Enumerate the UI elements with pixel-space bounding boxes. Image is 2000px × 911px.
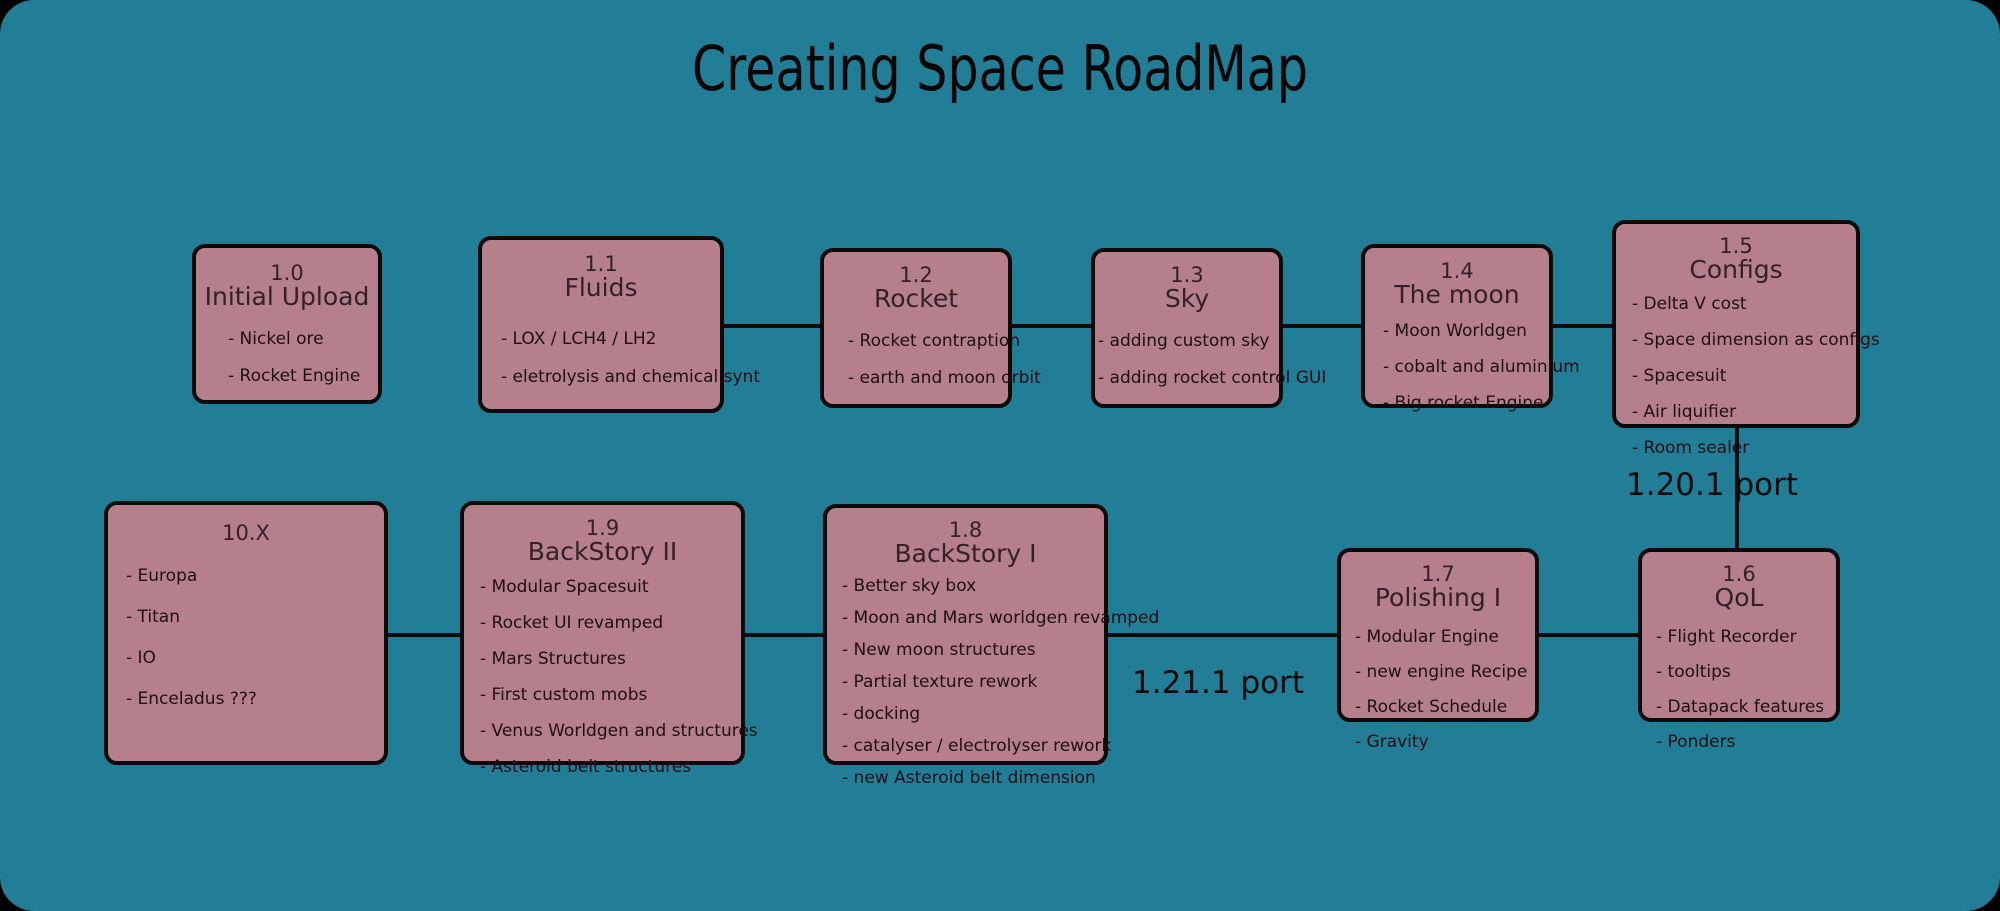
node-header: 1.1 Fluids [482,240,720,302]
list-item: - First custom mobs [480,687,741,704]
node-header: 10.X [108,505,384,544]
node-version: 1.8 [827,519,1104,541]
list-item: - Datapack features [1656,699,1836,716]
list-item: - new Asteroid belt dimension [842,770,1104,787]
node-item-list: - LOX / LCH4 / LH2 - eletrolysis and che… [482,302,720,386]
list-item: - Flight Recorder [1656,629,1836,646]
list-item: - Room sealer [1632,440,1856,457]
node-version: 10.X [108,522,384,544]
node-item-list: - Modular Engine - new engine Recipe - R… [1341,612,1535,751]
list-item: - Enceladus ??? [126,691,384,708]
node-1.1-fluids[interactable]: 1.1 Fluids - LOX / LCH4 / LH2 - eletroly… [478,236,724,413]
node-header: 1.0 Initial Upload [196,248,378,311]
node-name: The moon [1365,282,1549,309]
node-item-list: - Better sky box - Moon and Mars worldge… [827,568,1104,787]
list-item: - Partial texture rework [842,674,1104,691]
node-version: 1.5 [1616,235,1856,257]
node-1.7-polishing-i[interactable]: 1.7 Polishing I - Modular Engine - new e… [1337,548,1539,722]
node-name: Initial Upload [196,284,378,311]
node-version: 1.4 [1365,260,1549,282]
node-name: BackStory II [464,539,741,566]
list-item: - Venus Worldgen and structures [480,723,741,740]
list-item: - Moon Worldgen [1383,323,1549,340]
list-item: - Air liquifier [1632,404,1856,421]
list-item: - Better sky box [842,578,1104,595]
list-item: - new engine Recipe [1355,664,1535,681]
list-item: - adding rocket control GUI [1098,370,1279,387]
node-1.6-qol[interactable]: 1.6 QoL - Flight Recorder - tooltips - D… [1638,548,1840,722]
node-item-list: - Modular Spacesuit - Rocket UI revamped… [464,566,741,776]
node-header: 1.5 Configs [1616,224,1856,284]
list-item: - Mars Structures [480,651,741,668]
node-item-list: - Moon Worldgen - cobalt and aluminium -… [1365,309,1549,412]
list-item: - Rocket Schedule [1355,699,1535,716]
node-1.2-rocket[interactable]: 1.2 Rocket - Rocket contraption - earth … [820,248,1012,408]
list-item: - LOX / LCH4 / LH2 [501,331,720,348]
node-version: 1.7 [1341,563,1535,585]
list-item: - Titan [126,609,384,626]
list-item: - IO [126,650,384,667]
list-item: - Modular Spacesuit [480,579,741,596]
node-item-list: - Nickel ore - Rocket Engine [196,311,378,385]
node-header: 1.7 Polishing I [1341,552,1535,612]
node-item-list: - Delta V cost - Space dimension as conf… [1616,284,1856,457]
list-item: - tooltips [1656,664,1836,681]
node-header: 1.6 QoL [1642,552,1836,612]
node-item-list: - adding custom sky - adding rocket cont… [1095,313,1279,387]
node-10.X[interactable]: 10.X - Europa - Titan - IO - Enceladus ?… [104,501,388,765]
list-item: - Space dimension as configs [1632,332,1856,349]
node-1.5-configs[interactable]: 1.5 Configs - Delta V cost - Space dimen… [1612,220,1860,428]
node-name: Rocket [824,286,1008,313]
list-item: - catalyser / electrolyser rework [842,738,1104,755]
node-1.9-backstory-ii[interactable]: 1.9 BackStory II - Modular Spacesuit - R… [460,501,745,765]
list-item: - Delta V cost [1632,296,1856,313]
list-item: - New moon structures [842,642,1104,659]
list-item: - earth and moon orbit [848,370,1008,387]
list-item: - Moon and Mars worldgen revamped [842,610,1104,627]
list-item: - docking [842,706,1104,723]
list-item: - Nickel ore [228,331,378,348]
node-name: Fluids [482,275,720,302]
list-item: - eletrolysis and chemical synt [501,369,720,386]
list-item: - Big rocket Engine [1383,395,1549,412]
node-1.3-sky[interactable]: 1.3 Sky - adding custom sky - adding roc… [1091,248,1283,408]
node-version: 1.0 [196,262,378,284]
edge-1.3-to-1.4 [1280,324,1362,328]
node-name: Sky [1095,286,1279,313]
list-item: - Rocket Engine [228,368,378,385]
list-item: - Rocket UI revamped [480,615,741,632]
node-item-list: - Flight Recorder - tooltips - Datapack … [1642,612,1836,751]
node-header: 1.3 Sky [1095,252,1279,313]
edge-1.9-to-1.8 [745,633,823,637]
roadmap-canvas: Creating Space RoadMap 1.20.1 port 1.21.… [0,0,2000,911]
page-title: Creating Space RoadMap [120,38,1880,100]
node-name: Configs [1616,257,1856,284]
node-header: 1.2 Rocket [824,252,1008,313]
edge-1.7-to-1.6 [1539,633,1638,637]
node-1.0-initial-upload[interactable]: 1.0 Initial Upload - Nickel ore - Rocket… [192,244,382,404]
list-item: - Europa [126,568,384,585]
edge-1.8-to-1.7 [1108,633,1337,637]
node-name: BackStory I [827,541,1104,568]
edge-10.X-to-1.9 [388,633,460,637]
list-item: - Asteroid belt structures [480,759,741,776]
list-item: - Spacesuit [1632,368,1856,385]
node-1.8-backstory-i[interactable]: 1.8 BackStory I - Better sky box - Moon … [823,504,1108,765]
list-item: - Gravity [1355,734,1535,751]
node-1.4-the-moon[interactable]: 1.4 The moon - Moon Worldgen - cobalt an… [1361,244,1553,408]
node-item-list: - Europa - Titan - IO - Enceladus ??? [108,544,384,708]
node-header: 1.4 The moon [1365,248,1549,309]
list-item: - adding custom sky [1098,333,1279,350]
list-item: - Ponders [1656,734,1836,751]
node-name: QoL [1642,585,1836,612]
list-item: - cobalt and aluminium [1383,359,1549,376]
node-item-list: - Rocket contraption - earth and moon or… [824,313,1008,387]
edge-1.4-to-1.5 [1550,324,1612,328]
edge-label-1.20.1-port: 1.20.1 port [1626,470,1798,501]
list-item: - Rocket contraption [848,333,1008,350]
node-version: 1.3 [1095,264,1279,286]
node-version: 1.2 [824,264,1008,286]
node-version: 1.9 [464,517,741,539]
node-header: 1.8 BackStory I [827,508,1104,568]
edge-label-1.21.1-port: 1.21.1 port [1132,668,1304,699]
edge-1.1-to-1.2 [723,324,821,328]
list-item: - Modular Engine [1355,629,1535,646]
node-header: 1.9 BackStory II [464,505,741,566]
node-name: Polishing I [1341,585,1535,612]
node-version: 1.1 [482,253,720,275]
edge-1.2-to-1.3 [1010,324,1092,328]
node-version: 1.6 [1642,563,1836,585]
